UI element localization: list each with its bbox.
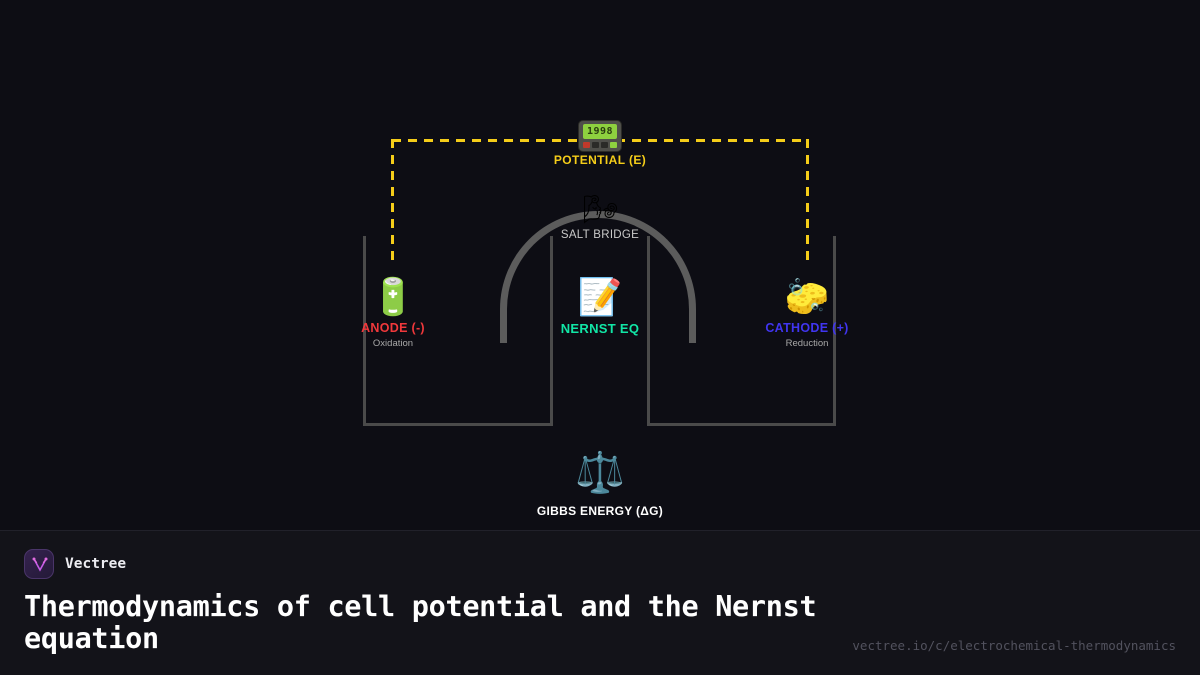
node-gibbs-energy[interactable]: ⚖️ GIBBS ENERGY (ΔG) — [515, 448, 685, 518]
voltmeter-button-red — [583, 142, 590, 148]
page-title: Thermodynamics of cell potential and the… — [24, 591, 854, 656]
node-cathode-title: CATHODE (+) — [722, 321, 892, 335]
node-anode-subtitle: Oxidation — [308, 338, 478, 349]
salt-bridge-label: SALT BRIDGE — [0, 229, 1200, 241]
brand: Vectree — [24, 549, 1176, 579]
node-anode-title: ANODE (-) — [308, 321, 478, 335]
caption-bar: Vectree Thermodynamics of cell potential… — [0, 530, 1200, 675]
voltmeter-icon: 1998 — [578, 120, 622, 152]
voltmeter-display: 1998 — [583, 124, 617, 139]
page-url: vectree.io/c/electrochemical-thermodynam… — [852, 638, 1176, 653]
electrochemical-cell-diagram: 1998 POTENTIAL (E) 🌬 SALT BRIDGE 🔋 ANODE… — [0, 0, 1200, 530]
memo-pencil-icon: 📝 — [515, 275, 685, 319]
voltmeter-button-green — [610, 142, 617, 148]
screenshot-root: 1998 POTENTIAL (E) 🌬 SALT BRIDGE 🔋 ANODE… — [0, 0, 1200, 675]
vectree-glyph — [30, 555, 50, 575]
node-nernst-title: NERNST EQ — [515, 321, 685, 336]
node-nernst-equation[interactable]: 📝 NERNST EQ — [515, 275, 685, 339]
voltmeter-button-1 — [592, 142, 599, 148]
bridge-at-night-icon: 🌬 — [583, 193, 617, 227]
battery-full-green-icon: 🔋 — [308, 275, 478, 319]
vectree-logo-icon — [24, 549, 54, 579]
potential-label: POTENTIAL (E) — [0, 153, 1200, 167]
gibbs-energy-label: GIBBS ENERGY (ΔG) — [515, 504, 685, 518]
brand-name: Vectree — [65, 556, 126, 572]
node-cathode-subtitle: Reduction — [722, 338, 892, 349]
voltmeter-buttons — [583, 142, 617, 148]
battery-low-red-icon: 🧽 — [722, 275, 892, 319]
balance-scale-icon: ⚖️ — [515, 448, 685, 498]
node-cathode[interactable]: 🧽 CATHODE (+) Reduction — [722, 275, 892, 349]
node-anode[interactable]: 🔋 ANODE (-) Oxidation — [308, 275, 478, 349]
voltmeter-button-2 — [601, 142, 608, 148]
